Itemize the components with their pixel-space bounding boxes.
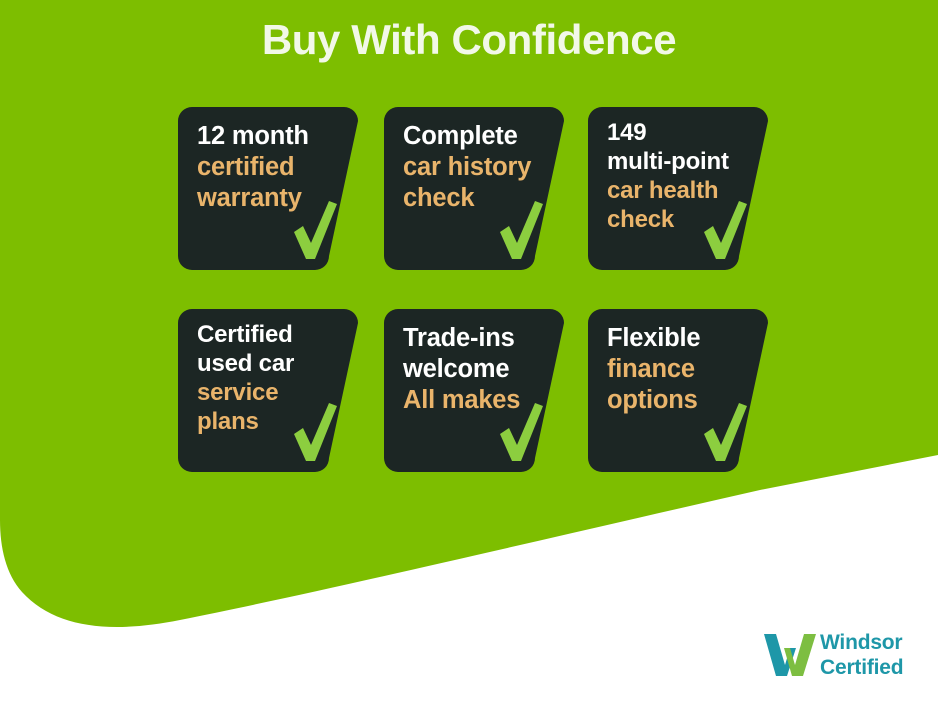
card-line-2: multi-point	[607, 147, 752, 176]
feature-card-trade-ins-welcome[interactable]: Trade-ins welcome All makes	[384, 309, 566, 472]
card-line-1: 12 month	[197, 121, 342, 152]
feature-card-certified-warranty[interactable]: 12 month certified warranty	[178, 107, 360, 270]
brand-logo-text: Windsor Certified	[820, 631, 903, 681]
brand-logo[interactable]: Windsor Certified	[762, 628, 934, 686]
slide-canvas: Buy With Confidence 12 month certified w…	[0, 0, 938, 704]
check-mark-icon	[291, 201, 339, 261]
feature-card-flexible-finance[interactable]: Flexible finance options	[588, 309, 770, 472]
check-mark-icon	[497, 201, 545, 261]
brand-name-line-2: Certified	[820, 656, 903, 681]
card-line-2: certified	[197, 152, 342, 183]
card-line-1: Complete	[403, 121, 548, 152]
brand-name-line-1: Windsor	[820, 631, 903, 656]
card-line-2: used car	[197, 349, 342, 378]
card-text-block: Flexible finance options	[607, 323, 752, 416]
card-text-block: 12 month certified warranty	[197, 121, 342, 214]
card-line-1: 149	[607, 118, 752, 147]
card-text-block: Complete car history check	[403, 121, 548, 214]
check-mark-icon	[291, 403, 339, 463]
check-mark-icon	[701, 403, 749, 463]
page-title: Buy With Confidence	[0, 17, 938, 63]
card-line-2: welcome	[403, 354, 548, 385]
card-line-1: Trade-ins	[403, 323, 548, 354]
feature-card-grid: 12 month certified warranty Complete car…	[0, 0, 938, 704]
check-mark-icon	[497, 403, 545, 463]
feature-card-multi-point-health-check[interactable]: 149 multi-point car health check	[588, 107, 770, 270]
card-line-2: finance	[607, 354, 752, 385]
windsor-w-logo-icon	[762, 632, 818, 678]
feature-card-car-history-check[interactable]: Complete car history check	[384, 107, 566, 270]
card-line-2: car history	[403, 152, 548, 183]
check-mark-icon	[701, 201, 749, 261]
card-text-block: Trade-ins welcome All makes	[403, 323, 548, 416]
card-line-1: Flexible	[607, 323, 752, 354]
feature-card-service-plans[interactable]: Certified used car service plans	[178, 309, 360, 472]
card-line-1: Certified	[197, 320, 342, 349]
